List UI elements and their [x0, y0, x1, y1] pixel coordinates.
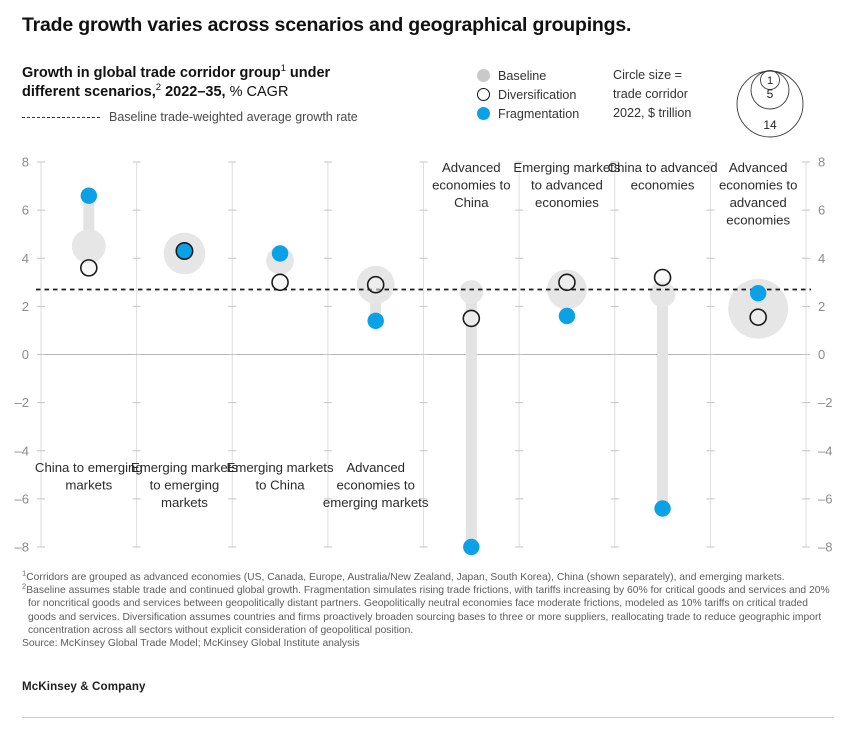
footnote-source: Source: McKinsey Global Trade Model; McK… [22, 637, 834, 650]
category-label: China to emerging [35, 460, 143, 475]
category-label: economies [726, 213, 790, 228]
fragmentation-marker[interactable] [367, 313, 383, 329]
y-axis-tick-label: –2 [15, 395, 29, 410]
category-label: to advanced [531, 178, 603, 193]
footnote-2-text: Baseline assumes stable trade and contin… [26, 585, 829, 636]
category-label: Emerging markets [513, 160, 620, 175]
y-axis-tick-label-right: –4 [818, 443, 832, 458]
circle-size-key-line1: Circle size = [613, 66, 691, 85]
category-label: China to advanced [608, 160, 718, 175]
y-axis-tick-label-right: 6 [818, 203, 825, 218]
category-label: markets [65, 478, 112, 493]
page-title: Trade growth varies across scenarios and… [22, 14, 631, 37]
category-label: economies to [719, 178, 797, 193]
circle-size-key-line2: trade corridor [613, 85, 691, 104]
y-axis-tick-label: –6 [15, 491, 29, 506]
category-label: economies to [336, 478, 414, 493]
category-label: to China [256, 478, 306, 493]
baseline-bubble [459, 280, 483, 304]
baseline-bubble [72, 229, 106, 263]
y-axis-tick-label-right: 0 [818, 347, 825, 362]
y-axis-tick-label: –8 [15, 540, 29, 555]
footnote-1: 1Corridors are grouped as advanced econo… [22, 571, 834, 584]
category-label: China [454, 195, 489, 210]
subtitle-line2-bold: different scenarios, [22, 84, 156, 100]
brand-mckinsey: McKinsey & Company [22, 680, 146, 693]
y-axis-tick-label-right: 4 [818, 251, 825, 266]
subtitle-units: % CAGR [226, 84, 289, 100]
diversification-marker[interactable] [272, 274, 288, 290]
diversification-marker[interactable] [463, 310, 479, 326]
y-axis-tick-label: 8 [22, 155, 29, 170]
category-label: to emerging [150, 478, 220, 493]
legend-item-diversification: Diversification [477, 85, 579, 104]
y-axis-tick-label-right: 2 [818, 299, 825, 314]
y-axis-tick-label: 2 [22, 299, 29, 314]
category-label: economies [535, 195, 599, 210]
filled-blue-circle-icon [477, 107, 490, 120]
diversification-marker[interactable] [81, 260, 97, 276]
footnote-1-text: Corridors are grouped as advanced econom… [26, 572, 784, 583]
open-circle-icon [477, 88, 490, 101]
diversification-marker[interactable] [655, 270, 671, 286]
y-axis-tick-label: 6 [22, 203, 29, 218]
size-key-value-5: 5 [767, 87, 774, 101]
diversification-marker[interactable] [368, 277, 384, 293]
fragmentation-marker[interactable] [559, 308, 575, 324]
size-key-value-1: 1 [767, 75, 773, 87]
y-axis-tick-label-right: –2 [818, 395, 832, 410]
fragmentation-marker[interactable] [81, 187, 97, 203]
category-label: Advanced [442, 160, 501, 175]
diversification-marker[interactable] [559, 274, 575, 290]
y-axis-tick-label-right: –8 [818, 540, 832, 555]
filled-grey-circle-icon [477, 69, 490, 82]
legend-label-baseline: Baseline [498, 69, 546, 83]
fragmentation-marker[interactable] [654, 500, 670, 516]
legend-item-baseline: Baseline [477, 66, 579, 85]
dashed-line-icon [22, 117, 100, 118]
fragmentation-marker[interactable] [463, 539, 479, 555]
circle-size-key-diagram: 1 5 14 [724, 57, 816, 139]
chart-page: Trade growth varies across scenarios and… [0, 0, 847, 736]
category-label: Emerging markets [131, 460, 238, 475]
category-label: advanced [730, 195, 787, 210]
size-key-value-14: 14 [763, 118, 777, 132]
circle-size-key-line3: 2022, $ trillion [613, 104, 691, 123]
category-label: Emerging markets [227, 460, 334, 475]
fragmentation-marker[interactable] [272, 245, 288, 261]
subtitle-line1-tail: under [286, 65, 330, 81]
bottom-divider [22, 717, 834, 718]
y-axis-tick-label: 0 [22, 347, 29, 362]
y-axis-tick-label-right: –6 [818, 491, 832, 506]
category-label: markets [161, 495, 208, 510]
category-label: economies to [432, 178, 510, 193]
diversification-marker[interactable] [750, 309, 766, 325]
chart-plot-area: 8866442200–2–2–4–4–6–6–8–8China to emerg… [0, 150, 847, 560]
legend-label-fragmentation: Fragmentation [498, 107, 579, 121]
subtitle-line2-tail: 2022–35, [161, 84, 226, 100]
footnote-2: 2Baseline assumes stable trade and conti… [22, 584, 834, 637]
y-axis-tick-label-right: 8 [818, 155, 825, 170]
legend: Baseline Diversification Fragmentation [477, 66, 579, 123]
y-axis-tick-label: –4 [15, 443, 29, 458]
y-axis-tick-label: 4 [22, 251, 29, 266]
legend-label-diversification: Diversification [498, 88, 576, 102]
footnotes: 1Corridors are grouped as advanced econo… [22, 571, 834, 650]
category-label: Advanced [346, 460, 405, 475]
category-label: economies [631, 178, 695, 193]
baseline-average-key: Baseline trade-weighted average growth r… [22, 110, 358, 124]
baseline-average-label: Baseline trade-weighted average growth r… [109, 110, 358, 124]
subtitle-line1-bold: Growth in global trade corridor group [22, 65, 281, 81]
fragmentation-marker[interactable] [750, 285, 766, 301]
category-label: emerging markets [323, 495, 429, 510]
circle-size-key-text: Circle size = trade corridor 2022, $ tri… [613, 66, 691, 123]
legend-item-fragmentation: Fragmentation [477, 104, 579, 123]
category-label: Advanced [729, 160, 788, 175]
fragmentation-marker[interactable] [176, 243, 192, 259]
chart-subtitle: Growth in global trade corridor group1 u… [22, 64, 462, 102]
scatter-chart: 8866442200–2–2–4–4–6–6–8–8China to emerg… [0, 150, 847, 560]
